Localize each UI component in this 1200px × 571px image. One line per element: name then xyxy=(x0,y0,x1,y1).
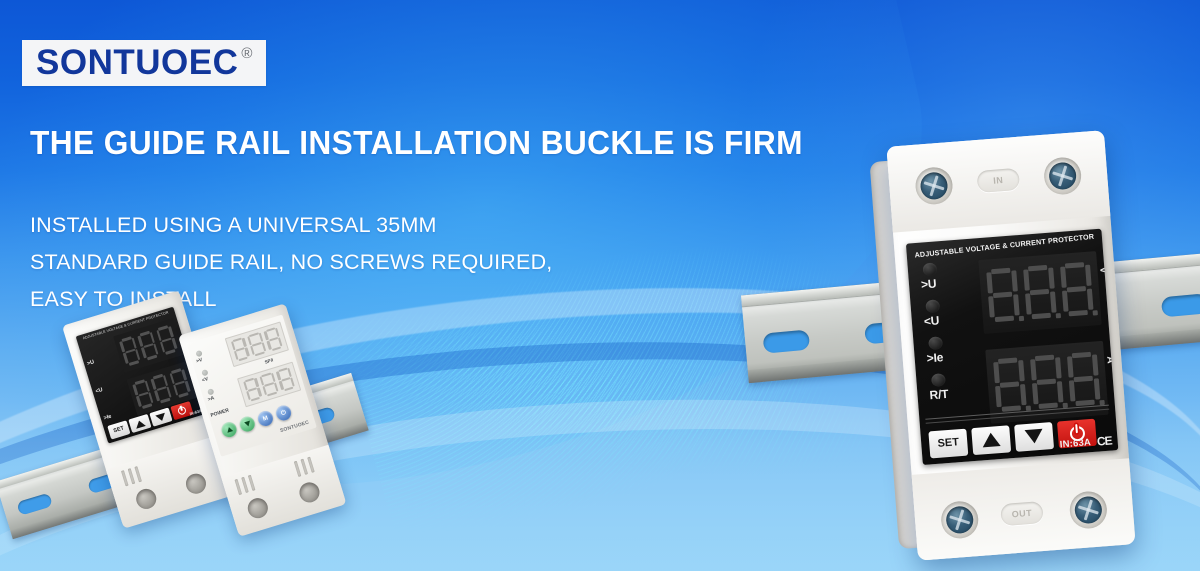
device-brand-label: SONTUOEC xyxy=(280,420,310,434)
led-indicator-group: >U <U >Ie R/T xyxy=(915,259,972,412)
brand-logo: SONTUOEC ® xyxy=(22,40,266,86)
terminal-label-out: OUT xyxy=(1000,501,1044,526)
measurement-display xyxy=(237,362,301,408)
seven-segment-digit xyxy=(243,377,263,402)
rail-slot xyxy=(1161,293,1200,317)
led-label: R/T xyxy=(929,388,949,401)
led-indicator-icon xyxy=(922,262,937,276)
ce-mark-icon: CE xyxy=(1096,434,1112,449)
product-banner: SONTUOEC ® THE GUIDE RAIL INSTALLATION B… xyxy=(0,0,1200,571)
led-label: >U xyxy=(921,277,937,290)
seven-segment-digit xyxy=(137,330,160,361)
led-indicator-icon xyxy=(103,398,108,414)
vent-slot xyxy=(121,470,129,486)
arrow-down-button[interactable] xyxy=(238,415,257,434)
headline: THE GUIDE RAIL INSTALLATION BUCKLE IS FI… xyxy=(30,124,803,162)
control-faceplate: ADJUSTABLE VOLTAGE & CURRENT PROTECTOR >… xyxy=(76,307,206,444)
screw-terminal xyxy=(1043,156,1083,196)
screw-terminal xyxy=(1068,490,1108,530)
seven-segment-digit xyxy=(993,357,1027,413)
led-indicator-icon xyxy=(928,336,943,350)
power-button[interactable]: ⏻ xyxy=(274,404,293,423)
terminal-hole xyxy=(183,471,208,496)
arrow-down-icon xyxy=(155,412,167,422)
seven-segment-digit xyxy=(259,372,279,397)
led-indicator-icon xyxy=(925,299,940,313)
seven-segment-digit xyxy=(156,324,179,355)
led-label: >U xyxy=(87,355,112,367)
led-row: <U xyxy=(918,296,967,336)
vent-slot xyxy=(134,466,142,482)
led-indicator-icon xyxy=(931,373,946,387)
body-line-2: STANDARD GUIDE RAIL, NO SCREWS REQUIRED, xyxy=(30,244,552,281)
seven-segment-digit xyxy=(247,332,267,357)
arrow-up-icon xyxy=(134,419,146,429)
vent-slot xyxy=(128,468,136,484)
seven-segment-digit xyxy=(264,327,284,352)
current-display xyxy=(985,341,1108,424)
terminal-block-input: IN xyxy=(886,130,1110,232)
led-label: <U xyxy=(95,383,120,395)
voltage-current-protector-main: IN OUT ADJUSTABLE VOLTAGE & CURRENT PROT… xyxy=(868,129,1151,562)
seven-segment-digit xyxy=(276,367,296,392)
power-led-label: POWER xyxy=(210,408,230,418)
rail-slot xyxy=(763,330,811,354)
body-line-1: INSTALLED USING A UNIVERSAL 35MM xyxy=(30,207,552,244)
led-indicator-icon xyxy=(201,369,208,376)
seven-segment-digit xyxy=(132,379,155,410)
led-indicator-icon xyxy=(95,371,100,387)
terminal-hole xyxy=(297,480,322,505)
power-icon: ⏻ xyxy=(280,409,286,416)
seven-segment-digit xyxy=(1060,262,1094,318)
led-label: >A xyxy=(207,396,215,403)
vent-slot xyxy=(248,475,256,491)
mode-icon: M xyxy=(262,415,269,422)
arrow-up-icon xyxy=(226,426,233,433)
setpoint-display xyxy=(225,321,289,367)
vent-slot xyxy=(300,459,308,475)
led-indicator-icon xyxy=(86,344,91,360)
terminal-hole xyxy=(134,486,159,511)
arrow-up-icon xyxy=(982,432,1001,447)
seven-segment-digit xyxy=(230,337,250,362)
led-label: <U xyxy=(923,314,939,327)
screw-terminal xyxy=(940,500,980,540)
set-button[interactable]: SET xyxy=(928,428,968,458)
power-icon xyxy=(177,406,187,416)
body-copy: INSTALLED USING A UNIVERSAL 35MM STANDAR… xyxy=(30,207,552,318)
registered-trademark-icon: ® xyxy=(241,46,252,61)
panel-footer: IN:63A CE xyxy=(1059,434,1112,452)
screw-terminal xyxy=(914,166,954,206)
rail-slot xyxy=(16,493,53,516)
voltage-display xyxy=(978,251,1101,334)
led-label: >V xyxy=(196,358,203,365)
arrow-down-icon xyxy=(244,421,251,428)
terminal-hole xyxy=(245,496,270,521)
vent-slot xyxy=(294,461,302,477)
vent-slot xyxy=(235,479,243,495)
left-product-group: ADJUSTABLE VOLTAGE & CURRENT PROTECTOR >… xyxy=(10,330,370,571)
seven-segment-digit xyxy=(986,267,1020,323)
led-row: >U xyxy=(915,259,964,299)
seven-segment-digit xyxy=(150,373,173,404)
terminal-block-output: OUT xyxy=(912,458,1136,560)
seven-segment-digit xyxy=(1023,264,1057,320)
arrow-up-button[interactable] xyxy=(971,425,1011,455)
led-indicator-icon xyxy=(195,350,202,357)
terminal-label-in: IN xyxy=(977,168,1021,193)
brand-name: SONTUOEC xyxy=(36,45,238,80)
arrow-down-icon xyxy=(1025,429,1044,444)
led-label: <V xyxy=(202,377,209,384)
led-row: >Ie xyxy=(921,333,970,373)
arrow-up-button[interactable] xyxy=(220,420,239,439)
seven-segment-digit xyxy=(1030,354,1064,410)
led-row: R/T xyxy=(924,370,973,410)
vent-slot xyxy=(307,457,315,473)
display-label: SP/I xyxy=(264,357,274,364)
arrow-down-button[interactable] xyxy=(1014,422,1054,452)
seven-segment-digit xyxy=(119,336,142,367)
vent-slot xyxy=(241,477,249,493)
control-faceplate: ADJUSTABLE VOLTAGE & CURRENT PROTECTOR >… xyxy=(906,229,1118,465)
led-label: >Ie xyxy=(926,351,943,364)
seven-segment-digit xyxy=(169,367,192,398)
current-rating-label: IN:63A xyxy=(1059,437,1091,450)
device-bottom-terminals xyxy=(221,445,346,537)
mode-button[interactable]: M xyxy=(256,409,275,428)
arrow-up-button[interactable] xyxy=(128,414,151,433)
seven-segment-digit xyxy=(1067,351,1101,407)
